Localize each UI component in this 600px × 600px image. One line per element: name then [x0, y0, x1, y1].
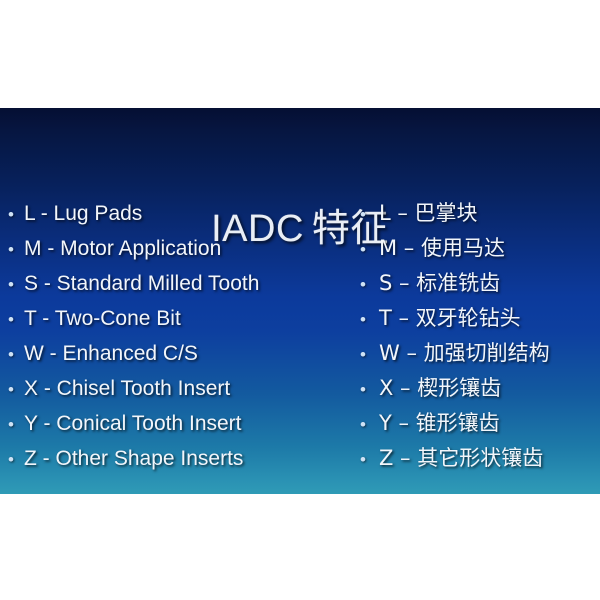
list-item-label: Z - Other Shape Inserts: [24, 441, 243, 476]
bullet-icon: •: [8, 372, 24, 407]
bullet-icon: •: [360, 197, 379, 232]
list-item: • X – 楔形镶齿: [360, 371, 596, 406]
list-item: • Y – 锥形镶齿: [360, 406, 596, 441]
list-item-label: S – 标准铣齿: [379, 266, 500, 301]
page-canvas: IADC特征 • L - Lug Pads • M - Motor Applic…: [0, 0, 600, 600]
bullet-icon: •: [360, 372, 379, 407]
list-item-label: M - Motor Application: [24, 231, 221, 266]
bullet-list-english: • L - Lug Pads • M - Motor Application •…: [8, 196, 348, 476]
bullet-icon: •: [8, 337, 24, 372]
list-item-label: Y – 锥形镶齿: [379, 406, 500, 441]
list-item: • T - Two-Cone Bit: [8, 301, 348, 336]
list-item: • Y - Conical Tooth Insert: [8, 406, 348, 441]
list-item-label: L - Lug Pads: [24, 196, 142, 231]
bullet-icon: •: [8, 232, 24, 267]
list-item: • W – 加强切削结构: [360, 336, 596, 371]
list-item: • Z - Other Shape Inserts: [8, 441, 348, 476]
list-item-label: T - Two-Cone Bit: [24, 301, 181, 336]
list-item: • L - Lug Pads: [8, 196, 348, 231]
bullet-icon: •: [8, 197, 24, 232]
list-item-label: M – 使用马达: [379, 231, 505, 266]
bullet-icon: •: [8, 442, 24, 477]
list-item-label: S - Standard Milled Tooth: [24, 266, 259, 301]
list-item-label: T – 双牙轮钻头: [379, 301, 521, 336]
bullet-icon: •: [8, 267, 24, 302]
bullet-icon: •: [360, 267, 379, 302]
list-item-label: W - Enhanced C/S: [24, 336, 198, 371]
list-item-label: Z – 其它形状镶齿: [379, 441, 543, 476]
list-item-label: X – 楔形镶齿: [379, 371, 501, 406]
list-item: • Z – 其它形状镶齿: [360, 441, 596, 476]
list-item: • T – 双牙轮钻头: [360, 301, 596, 336]
list-item-label: L – 巴掌块: [379, 196, 478, 231]
list-item: • X - Chisel Tooth Insert: [8, 371, 348, 406]
list-item-label: Y - Conical Tooth Insert: [24, 406, 242, 441]
list-item-label: X - Chisel Tooth Insert: [24, 371, 230, 406]
bullet-icon: •: [360, 442, 379, 477]
bullet-icon: •: [360, 232, 379, 267]
list-item: • M - Motor Application: [8, 231, 348, 266]
bullet-list-chinese: • L – 巴掌块 • M – 使用马达 • S – 标准铣齿 • T – 双牙…: [360, 196, 596, 476]
list-item: • S – 标准铣齿: [360, 266, 596, 301]
presentation-slide: IADC特征 • L - Lug Pads • M - Motor Applic…: [0, 108, 600, 494]
list-item: • L – 巴掌块: [360, 196, 596, 231]
list-item-label: W – 加强切削结构: [379, 336, 550, 371]
list-item: • S - Standard Milled Tooth: [8, 266, 348, 301]
bullet-icon: •: [360, 407, 379, 442]
list-item: • W - Enhanced C/S: [8, 336, 348, 371]
bullet-icon: •: [360, 337, 379, 372]
bullet-icon: •: [360, 302, 379, 337]
bullet-icon: •: [8, 302, 24, 337]
list-item: • M – 使用马达: [360, 231, 596, 266]
bullet-icon: •: [8, 407, 24, 442]
